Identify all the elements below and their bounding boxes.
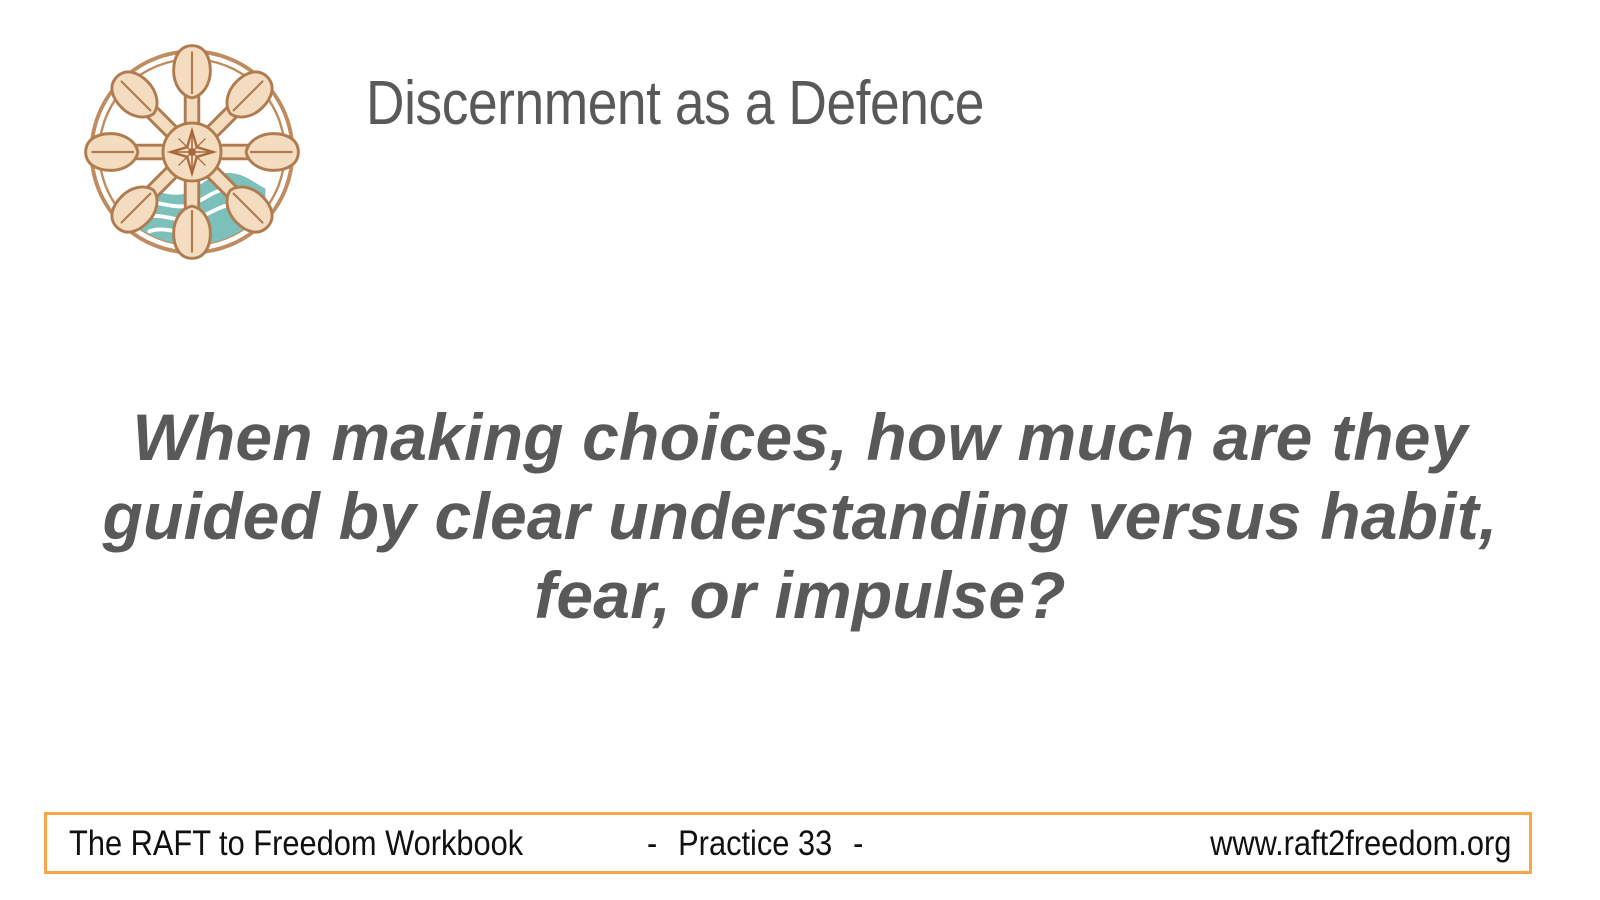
- raft-wheel-logo-icon: [76, 32, 308, 272]
- footer-practice: - Practice 33 -: [647, 826, 863, 861]
- footer-website[interactable]: www.raft2freedom.org: [1210, 826, 1511, 861]
- question-block: When making choices, how much are they g…: [60, 398, 1540, 636]
- compass-rose-icon: [163, 123, 221, 181]
- question-line-2: guided by clear understanding versus hab…: [60, 477, 1540, 556]
- question-line-3: fear, or impulse?: [60, 556, 1540, 635]
- question-line-1: When making choices, how much are they: [60, 398, 1540, 477]
- footer-practice-label: Practice 33: [666, 826, 845, 861]
- raft-wheel-logo: [76, 32, 308, 272]
- page-title: Discernment as a Defence: [366, 68, 1381, 139]
- footer-bar: The RAFT to Freedom Workbook - Practice …: [44, 812, 1532, 874]
- slide-header: Discernment as a Defence: [0, 0, 1600, 300]
- footer-separator-left: -: [647, 824, 657, 863]
- footer-workbook-title: The RAFT to Freedom Workbook: [69, 826, 523, 861]
- slide-canvas: Discernment as a Defence When making cho…: [0, 0, 1600, 900]
- footer-separator-right: -: [853, 824, 863, 863]
